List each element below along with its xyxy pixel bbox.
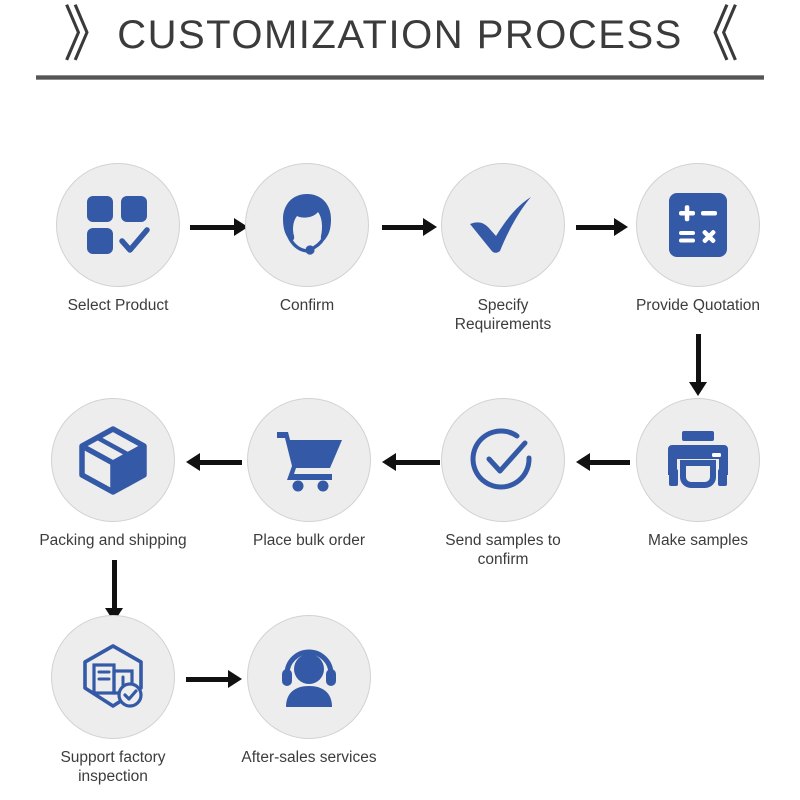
title-divider <box>36 75 764 80</box>
headset-person-icon <box>274 646 344 708</box>
header: 》 CUSTOMIZATION PROCESS 《 <box>0 0 800 90</box>
arrow-step5-to-step6 <box>576 451 630 473</box>
step-icon-circle <box>636 398 760 522</box>
step-icon-circle <box>56 163 180 287</box>
step-icon-circle <box>247 398 371 522</box>
arrow-shaft <box>696 334 701 382</box>
step-node-send-samples-to-confirm[interactable]: Send samples to confirm <box>428 398 578 570</box>
factory-inspection-shield-icon <box>77 643 149 711</box>
step-label: Select Product <box>43 296 193 315</box>
page-title: CUSTOMIZATION PROCESS <box>117 13 683 58</box>
arrow-head-left-icon <box>186 453 200 471</box>
headset-operator-icon <box>273 191 341 259</box>
step-label: Support factory inspection <box>38 748 188 787</box>
shopping-cart-icon <box>274 428 344 492</box>
step-node-specify-requirements[interactable]: Specify Requirements <box>428 163 578 335</box>
package-box-icon <box>78 425 148 495</box>
step-node-confirm[interactable]: Confirm <box>232 163 382 315</box>
step-node-place-bulk-order[interactable]: Place bulk order <box>234 398 384 550</box>
step-node-support-factory-inspection[interactable]: Support factory inspection <box>38 615 188 787</box>
arrow-shaft <box>112 560 117 608</box>
step-icon-circle <box>245 163 369 287</box>
step-icon-circle <box>51 398 175 522</box>
grid-check-icon <box>85 194 151 256</box>
printer-machine-icon <box>664 429 732 491</box>
step-label: After-sales services <box>234 748 384 767</box>
step-label: Provide Quotation <box>623 296 773 315</box>
step-node-provide-quotation[interactable]: Provide Quotation <box>623 163 773 315</box>
step-label: Send samples to confirm <box>428 531 578 570</box>
step-node-select-product[interactable]: Select Product <box>43 163 193 315</box>
step-icon-circle <box>441 398 565 522</box>
arrow-shaft <box>190 225 234 230</box>
arrow-head-left-icon <box>382 453 396 471</box>
arrow-step3-to-step4 <box>576 216 628 238</box>
step-node-packing-and-shipping[interactable]: Packing and shipping <box>38 398 188 550</box>
chevron-left-decoration-icon: 》 <box>63 5 115 65</box>
step-icon-circle <box>247 615 371 739</box>
step-node-after-sales-services[interactable]: After-sales services <box>234 615 384 767</box>
step-node-make-samples[interactable]: Make samples <box>623 398 773 550</box>
calculator-icon <box>667 191 729 259</box>
step-label: Packing and shipping <box>38 531 188 550</box>
circle-check-icon <box>469 426 537 494</box>
chevron-right-decoration-icon: 《 <box>685 5 737 65</box>
arrow-step8-to-step9 <box>103 560 125 622</box>
arrow-step4-to-step5 <box>687 334 709 396</box>
step-label: Specify Requirements <box>428 296 578 335</box>
step-label: Make samples <box>623 531 773 550</box>
arrow-shaft <box>186 677 228 682</box>
customization-process-infographic: 》 CUSTOMIZATION PROCESS 《 Select Product <box>0 0 800 800</box>
step-label: Place bulk order <box>234 531 384 550</box>
step-label: Confirm <box>232 296 382 315</box>
checkmark-icon <box>467 194 539 256</box>
arrow-head-left-icon <box>576 453 590 471</box>
arrow-shaft <box>576 225 614 230</box>
step-icon-circle <box>636 163 760 287</box>
step-icon-circle <box>51 615 175 739</box>
title-row: 》 CUSTOMIZATION PROCESS 《 <box>0 0 800 70</box>
arrow-head-down-icon <box>689 382 707 396</box>
step-icon-circle <box>441 163 565 287</box>
arrow-shaft <box>382 225 423 230</box>
